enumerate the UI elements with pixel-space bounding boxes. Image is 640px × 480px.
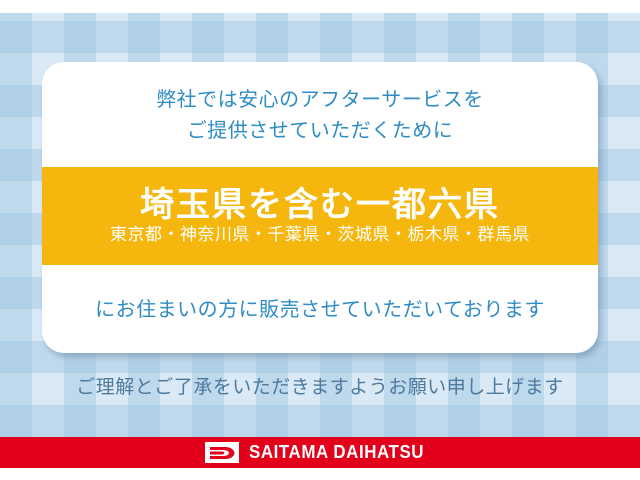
intro-line-1: 弊社では安心のアフターサービスを	[156, 87, 484, 112]
prefecture-list: 東京都・神奈川県・千葉県・茨城県・栃木県・群馬県	[110, 226, 530, 245]
notice-banner: 弊社では安心のアフターサービスを ご提供させていただくために 埼玉県を含む一都六…	[0, 0, 640, 480]
card-intro-block: 弊社では安心のアフターサービスを ご提供させていただくために	[42, 62, 598, 167]
highlight-band: 埼玉県を含む一都六県 東京都・神奈川県・千葉県・茨城県・栃木県・群馬県	[42, 167, 598, 265]
closing-line: にお住まいの方に販売させていただいております	[95, 297, 545, 322]
request-caption: ご理解とご了承をいただきますようお願い申し上げます	[0, 372, 640, 399]
highlight-headline: 埼玉県を含む一都六県	[140, 187, 500, 224]
card-closing-block: にお住まいの方に販売させていただいております	[42, 265, 598, 353]
brand-footer: SAITAMA DAIHATSU	[0, 437, 640, 468]
daihatsu-d-logo-icon	[205, 442, 239, 463]
notice-card: 弊社では安心のアフターサービスを ご提供させていただくために 埼玉県を含む一都六…	[42, 62, 598, 353]
intro-line-2: ご提供させていただくために	[187, 118, 454, 143]
brand-name: SAITAMA DAIHATSU	[249, 442, 424, 463]
